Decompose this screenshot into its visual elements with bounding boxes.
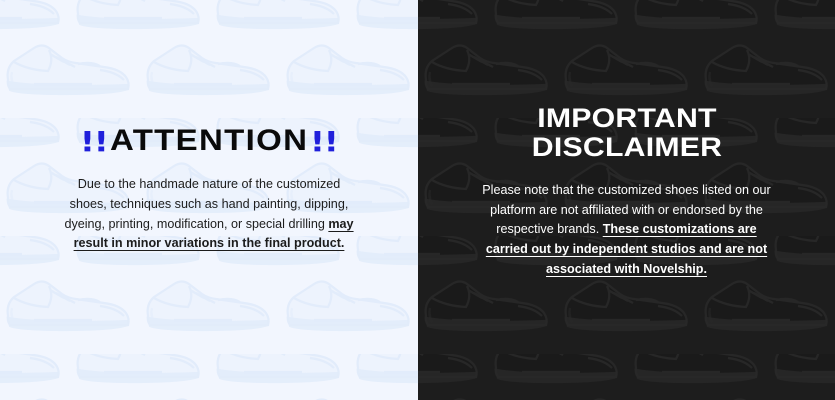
dual-notice-banner: !! ATTENTION !! Due to the handmade natu…: [0, 0, 835, 400]
attention-body-text: Due to the handmade nature of the custom…: [59, 175, 359, 255]
exclamation-marks-right-icon: !!: [310, 128, 338, 156]
attention-content: !! ATTENTION !! Due to the handmade natu…: [0, 0, 418, 390]
disclaimer-heading-line-2: DISCLAIMER: [531, 133, 721, 162]
attention-heading-text: ATTENTION: [110, 126, 308, 156]
attention-heading: !! ATTENTION !!: [82, 126, 335, 156]
attention-body-normal: Due to the handmade nature of the custom…: [64, 177, 348, 231]
disclaimer-body-text: Please note that the customized shoes li…: [474, 181, 779, 280]
attention-panel: !! ATTENTION !! Due to the handmade natu…: [0, 0, 418, 400]
disclaimer-heading-line-1: IMPORTANT: [531, 104, 721, 133]
disclaimer-content: IMPORTANT DISCLAIMER Please note that th…: [418, 0, 835, 392]
disclaimer-panel: IMPORTANT DISCLAIMER Please note that th…: [418, 0, 835, 400]
exclamation-marks-left-icon: !!: [80, 128, 108, 156]
disclaimer-heading: IMPORTANT DISCLAIMER: [531, 104, 721, 162]
